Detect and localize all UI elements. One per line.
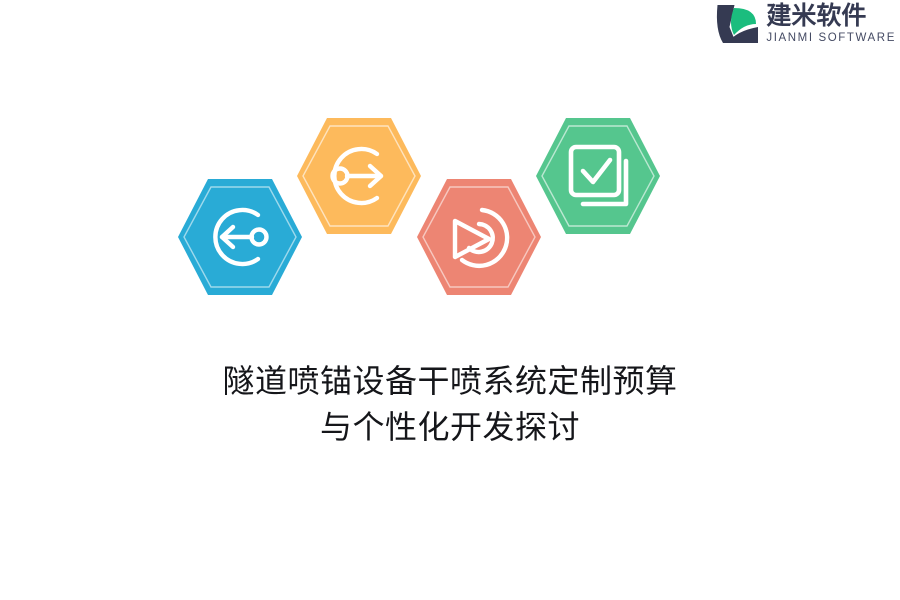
hexagon-shape [417,179,541,295]
brand-logo[interactable]: 建米软件 JIANMI SOFTWARE [714,2,896,46]
hexagon-item-3[interactable] [415,177,543,297]
page-title-line-2: 与个性化开发探讨 [0,405,900,450]
page-title: 隧道喷锚设备干喷系统定制预算 与个性化开发探讨 [0,359,900,450]
hexagon-item-1[interactable] [176,177,304,297]
hexagon-icon-cluster [176,112,666,302]
hexagon-item-4[interactable] [534,116,662,236]
jianmi-leaf-logo-icon [714,2,760,46]
page-title-line-1: 隧道喷锚设备干喷系统定制预算 [0,359,900,404]
hexagon-item-2[interactable] [295,116,423,236]
brand-name-en: JIANMI SOFTWARE [766,33,896,45]
brand-name-cn: 建米软件 [766,3,896,28]
brand-text: 建米软件 JIANMI SOFTWARE [766,3,896,45]
